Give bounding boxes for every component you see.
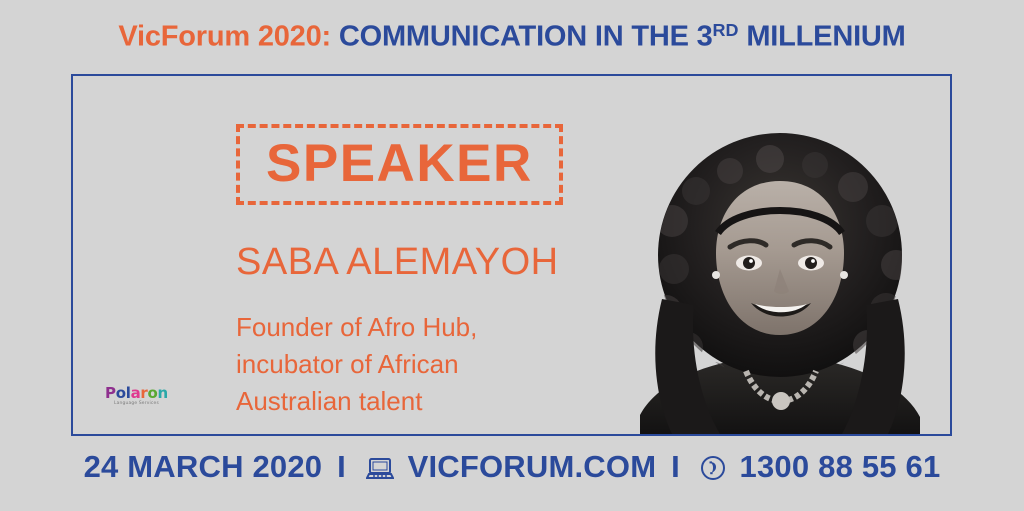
speaker-bio-line-1: Founder of Afro Hub, [236,309,656,346]
portrait-illustration [610,129,950,434]
speaker-bio: Founder of Afro Hub, incubator of Africa… [236,309,656,420]
footer-contact-bar: 24 MARCH 2020 I VICFORUM.COM I 1300 88 5… [0,449,1024,489]
footer-separator-2: I [665,449,686,484]
speaker-name: SABA ALEMAYOH [236,243,656,283]
speaker-badge: SPEAKER [236,124,563,205]
speaker-content: SPEAKER SABA ALEMAYOH Founder of Afro Hu… [236,124,656,420]
polaron-logo: Polaron Language Services [105,386,168,406]
title-main-before: COMMUNICATION IN THE 3 [339,20,713,52]
polaron-wordmark: Polaron [105,386,168,401]
content-frame: SPEAKER SABA ALEMAYOH Founder of Afro Hu… [71,74,952,436]
laptop-icon [366,453,394,489]
title-brand: VicForum 2020: [118,20,331,52]
laptop-icon-svg [366,457,394,481]
speaker-bio-line-3: Australian talent [236,383,656,420]
polaron-tagline: Language Services [105,402,168,406]
footer-phone[interactable]: 1300 88 55 61 [740,449,941,484]
phone-icon-svg [700,455,726,481]
phone-icon [700,453,726,489]
footer-date: 24 MARCH 2020 [84,449,323,484]
title-main-after: MILLENIUM [746,20,905,52]
event-banner: VicForum 2020: COMMUNICATION IN THE 3RD … [0,0,1024,511]
footer-website[interactable]: VICFORUM.COM [408,449,657,484]
title-ordinal-suffix: RD [713,20,739,40]
page-title: VicForum 2020: COMMUNICATION IN THE 3RD … [0,20,1024,53]
speaker-portrait [610,129,950,434]
footer-separator-1: I [331,449,352,484]
speaker-bio-line-2: incubator of African [236,346,656,383]
